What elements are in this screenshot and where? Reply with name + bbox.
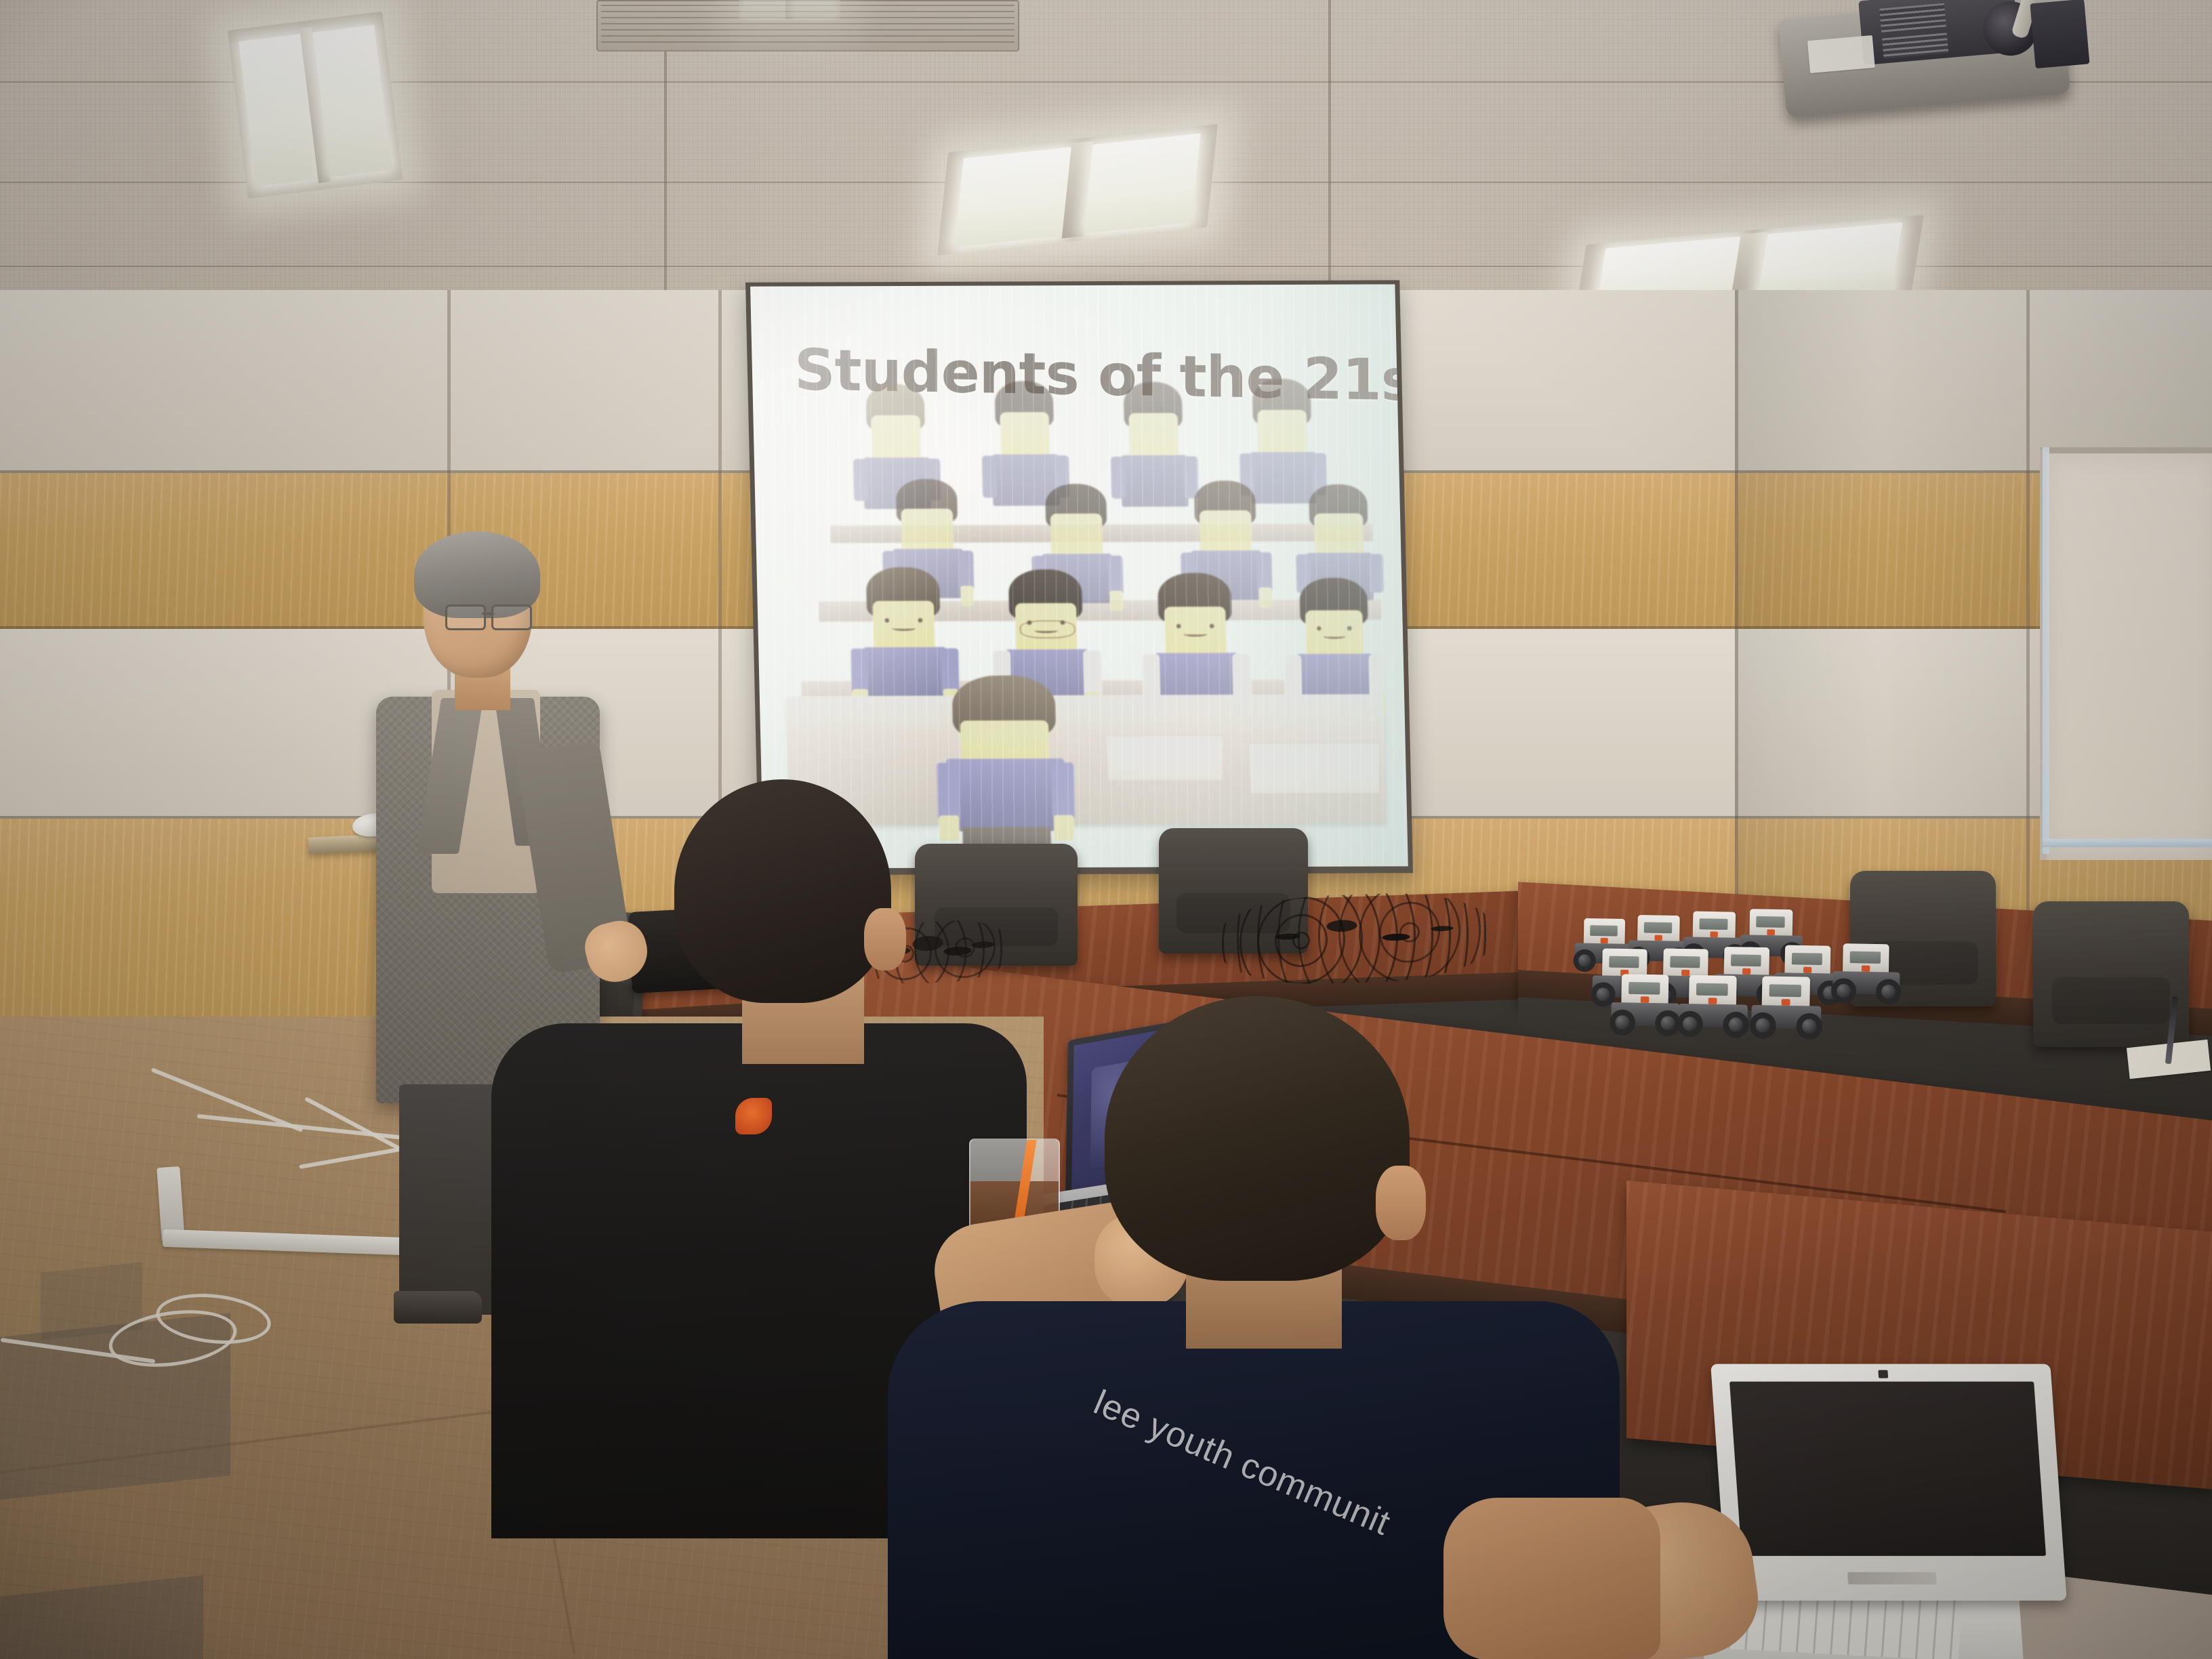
cable-tangle[interactable]	[1220, 890, 1491, 987]
presenter-shoe	[394, 1291, 482, 1324]
shirt-logo-icon	[735, 1098, 772, 1134]
ceiling-seam	[1328, 0, 1331, 285]
attendee-arm	[1443, 1498, 1660, 1659]
conference-chair[interactable]	[2033, 901, 2189, 1047]
window-blind	[2043, 447, 2049, 854]
laptop-screen[interactable]	[1729, 1382, 2046, 1556]
laptop-lid	[1711, 1364, 2067, 1601]
lego-nxt-robot[interactable]	[1751, 976, 1822, 1040]
lego-nxt-robot[interactable]	[1678, 975, 1748, 1038]
seminar-room-photo: Students of the 21st Century	[0, 0, 2212, 1659]
laptop-brand-logo	[1847, 1572, 1937, 1584]
attendee-ear	[864, 908, 906, 970]
window-blind-bottom-rail	[2043, 839, 2212, 847]
attendee-head	[674, 779, 891, 1003]
lego-nxt-robot[interactable]	[1832, 943, 1900, 1004]
white-laptop[interactable]	[1711, 1349, 2110, 1659]
attendee-navy-shirt: lee youth communit	[969, 996, 1647, 1659]
webcam-icon	[1878, 1370, 1888, 1378]
ceiling-light	[228, 12, 403, 199]
attendee-head	[1105, 996, 1410, 1281]
ceiling-light	[739, 0, 840, 20]
window	[2040, 447, 2212, 860]
attendee-ear	[1376, 1166, 1426, 1240]
eyeglasses-icon	[445, 605, 532, 628]
